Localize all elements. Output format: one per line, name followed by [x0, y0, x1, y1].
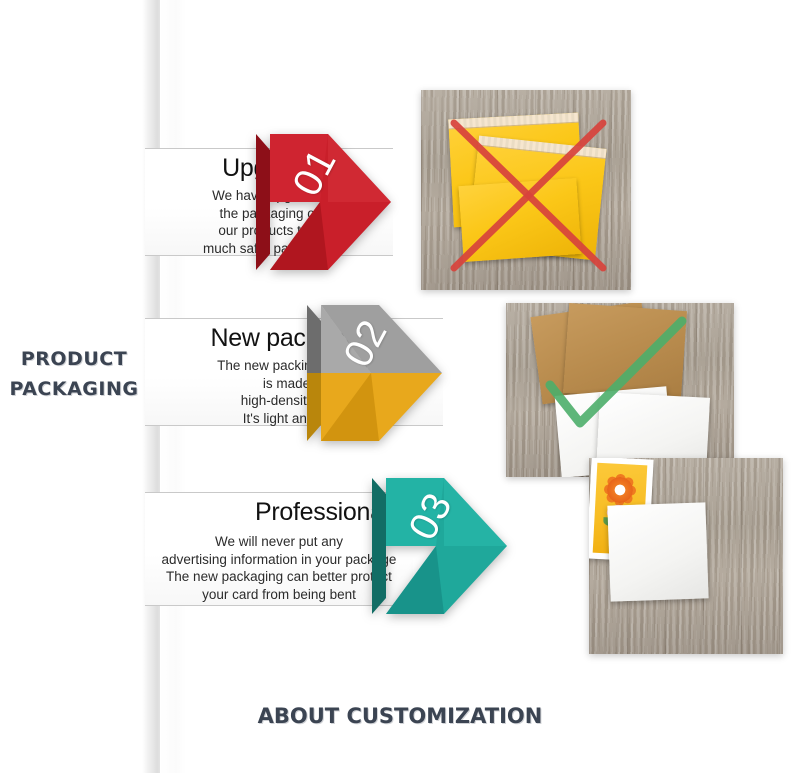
page-title-line-2: PACKAGING [8, 374, 140, 404]
page-title-line-1: PRODUCT [21, 348, 127, 370]
red-cross-mark-icon [421, 90, 631, 290]
photo-kraft-white-envelopes [506, 303, 734, 477]
white-envelope-large [607, 502, 708, 601]
page-title: PRODUCT PACKAGING [8, 344, 140, 404]
green-check-mark-icon [506, 303, 734, 477]
step-2-chevron: 02 [307, 297, 442, 449]
photo-white-envelope-greeting-card [589, 458, 783, 654]
bottom-caption: ABOUT CUSTOMIZATION [0, 704, 800, 728]
step-3-chevron: 03 [372, 470, 507, 622]
step-1-chevron: 01 [256, 126, 391, 278]
infographic-canvas: Upgrade We have upgraded the packaging o… [0, 0, 800, 773]
sun-motif-icon [606, 476, 633, 503]
photo-yellow-mailers [421, 90, 631, 290]
